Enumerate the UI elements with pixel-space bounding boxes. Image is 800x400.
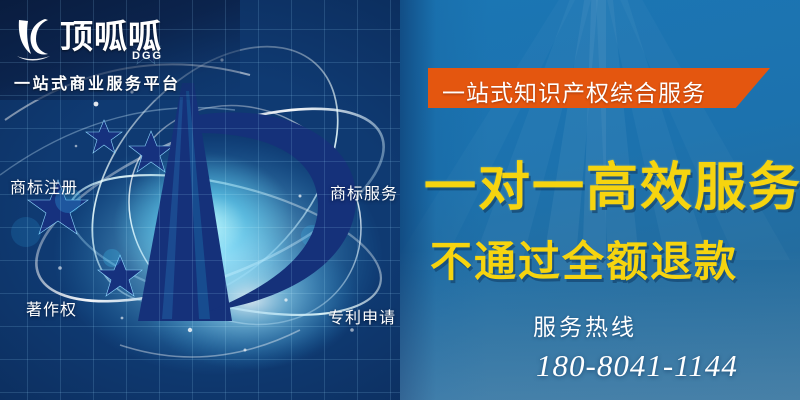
right-promo-panel: 一站式知识产权综合服务 一对一高效服务 不通过全额退款 服务热线 180-804… bbox=[400, 0, 800, 400]
brand-abbr: DGG bbox=[132, 50, 163, 62]
service-label-trademark-service: 商标服务 bbox=[330, 180, 398, 204]
promo-headline-secondary: 不通过全额退款 bbox=[430, 228, 738, 289]
promo-banner: 商标注册 著作权 商标服务 专利申请 顶呱呱 DGG 一站式商业服务平台 bbox=[0, 0, 800, 400]
promo-headline-primary: 一对一高效服务 bbox=[424, 145, 800, 220]
dgg-leaf-logo-icon bbox=[12, 16, 58, 62]
left-visual-scene: 商标注册 著作权 商标服务 专利申请 顶呱呱 DGG 一站式商业服务平台 bbox=[0, 0, 430, 400]
service-label-copyright: 著作权 bbox=[26, 296, 77, 320]
service-label-trademark-registration: 商标注册 bbox=[10, 174, 78, 198]
service-label-patent-application: 专利申请 bbox=[328, 304, 396, 328]
hotline-number[interactable]: 180-8041-1144 bbox=[536, 348, 738, 384]
hotline-label: 服务热线 bbox=[533, 308, 637, 342]
promo-ribbon-text: 一站式知识产权综合服务 bbox=[442, 74, 762, 104]
brand-logo[interactable]: 顶呱呱 DGG 一站式商业服务平台 bbox=[8, 10, 238, 94]
brand-tagline: 一站式商业服务平台 bbox=[14, 70, 181, 94]
